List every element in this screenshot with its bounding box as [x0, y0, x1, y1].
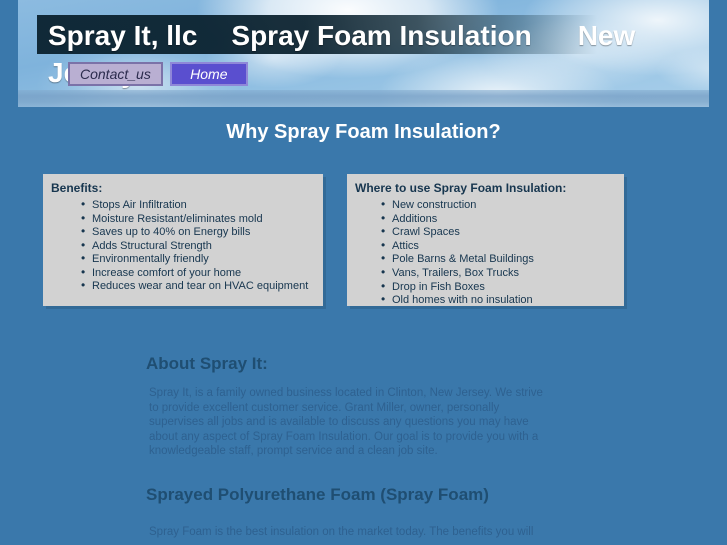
page-title: Why Spray Foam Insulation?	[0, 121, 727, 144]
list-item: Moisture Resistant/eliminates mold	[81, 213, 317, 227]
list-item: Pole Barns & Metal Buildings	[381, 253, 618, 267]
main-content: Why Spray Foam Insulation? Benefits: Sto…	[0, 107, 727, 545]
nav-home-button[interactable]: Home	[170, 62, 248, 86]
where-to-use-list: New construction Additions Crawl Spaces …	[353, 199, 618, 308]
list-item: Crawl Spaces	[381, 226, 618, 240]
spray-foam-heading: Sprayed Polyurethane Foam (Spray Foam)	[146, 485, 489, 505]
list-item: Reduces wear and tear on HVAC equipment	[81, 280, 317, 294]
list-item: Old homes with no insulation	[381, 294, 618, 308]
list-item: Vans, Trailers, Box Trucks	[381, 267, 618, 281]
site-title-part1: Spray It, llc	[48, 20, 197, 51]
nav-contact-us-label: Contact_us	[80, 66, 151, 82]
list-item: Saves up to 40% on Energy bills	[81, 226, 317, 240]
page-root: Spray It, llcSpray Foam InsulationNew Je…	[0, 0, 727, 545]
about-heading: About Spray It:	[146, 354, 268, 374]
list-item: Attics	[381, 240, 618, 254]
list-item: Additions	[381, 213, 618, 227]
spray-foam-paragraph: Spray Foam is the best insulation on the…	[149, 525, 549, 540]
benefits-box-title: Benefits:	[49, 181, 317, 195]
list-item: New construction	[381, 199, 618, 213]
benefits-list: Stops Air Infiltration Moisture Resistan…	[49, 199, 317, 294]
main-navigation: Contact_us Home	[68, 62, 248, 86]
list-item: Environmentally friendly	[81, 253, 317, 267]
about-paragraph: Spray It, is a family owned business loc…	[149, 386, 549, 459]
list-item: Stops Air Infiltration	[81, 199, 317, 213]
nav-contact-us-button[interactable]: Contact_us	[68, 62, 163, 86]
where-to-use-box: Where to use Spray Foam Insulation: New …	[347, 174, 624, 306]
list-item: Adds Structural Strength	[81, 240, 317, 254]
banner-bottom-strip	[18, 90, 709, 107]
list-item: Drop in Fish Boxes	[381, 281, 618, 295]
where-to-use-box-title: Where to use Spray Foam Insulation:	[353, 181, 618, 195]
nav-home-label: Home	[190, 66, 227, 82]
benefits-box: Benefits: Stops Air Infiltration Moistur…	[43, 174, 323, 306]
list-item: Increase comfort of your home	[81, 267, 317, 281]
site-title-part2: Spray Foam Insulation	[231, 20, 531, 51]
